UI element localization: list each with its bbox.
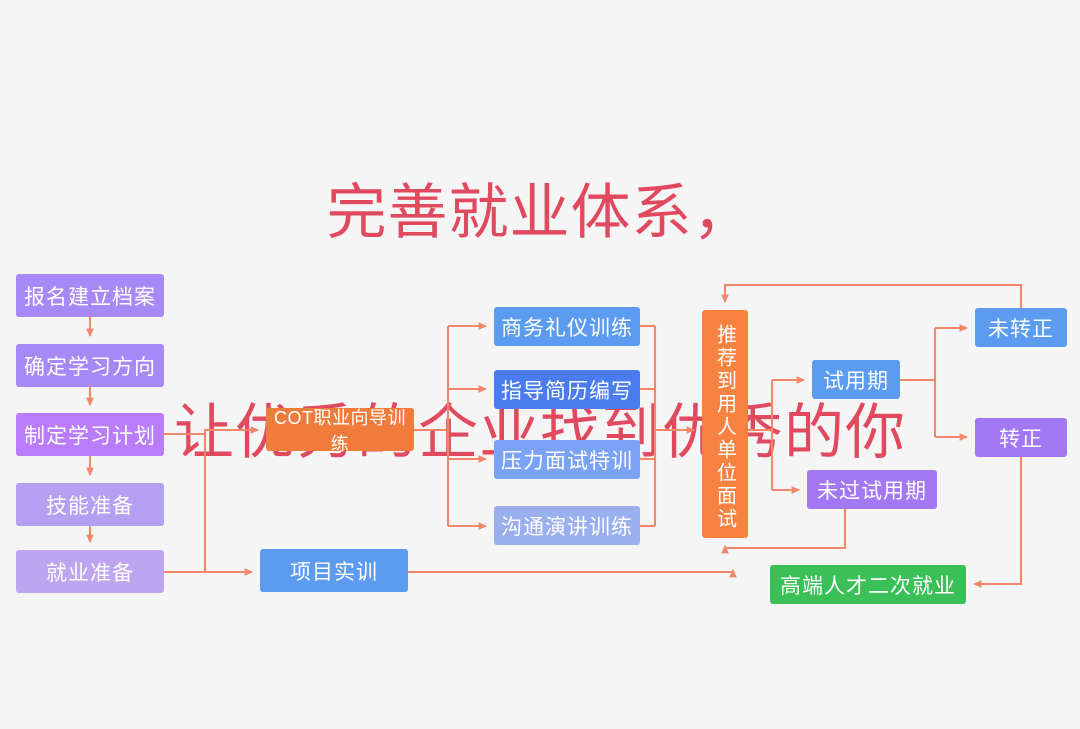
node-tuijian-dao-yongren-danwei-mianshi[interactable]: 推荐到用人单位面试 bbox=[702, 310, 748, 538]
node-label: 未过试用期 bbox=[817, 475, 927, 505]
node-wei-zhuanzheng[interactable]: 未转正 bbox=[975, 308, 1067, 347]
node-label: 制定学习计划 bbox=[24, 420, 156, 450]
flowchart-canvas: 完善就业体系， 让优秀的企业找到优秀的你 bbox=[0, 0, 1080, 729]
node-shangwu-liyi-xunlian[interactable]: 商务礼仪训练 bbox=[494, 307, 640, 346]
node-label: 试用期 bbox=[823, 365, 889, 395]
node-label: 高端人才二次就业 bbox=[780, 570, 956, 600]
node-shiyongqi[interactable]: 试用期 bbox=[812, 360, 900, 399]
node-label: 压力面试特训 bbox=[501, 445, 633, 475]
node-label: 商务礼仪训练 bbox=[501, 312, 633, 342]
node-label: 沟通演讲训练 bbox=[501, 511, 633, 541]
node-xiangmu-shixun[interactable]: 项目实训 bbox=[260, 549, 408, 592]
node-zhidao-jianli-bianxie[interactable]: 指导简历编写 bbox=[494, 370, 640, 409]
node-label: 项目实训 bbox=[290, 556, 378, 586]
page-title-line-1: 完善就业体系， bbox=[0, 176, 1080, 249]
node-label: 确定学习方向 bbox=[24, 351, 156, 381]
node-baoming-jianli-dangan[interactable]: 报名建立档案 bbox=[16, 274, 164, 317]
node-label: COT职业向导训练 bbox=[266, 404, 414, 456]
node-goutong-yanjiang-xunlian[interactable]: 沟通演讲训练 bbox=[494, 506, 640, 545]
node-queding-xuexi-fangxiang[interactable]: 确定学习方向 bbox=[16, 344, 164, 387]
node-zhuanzheng[interactable]: 转正 bbox=[975, 418, 1067, 457]
node-label: 指导简历编写 bbox=[501, 375, 633, 405]
node-label: 就业准备 bbox=[46, 557, 134, 587]
node-zhiding-xuexi-jihua[interactable]: 制定学习计划 bbox=[16, 413, 164, 456]
node-label: 推荐到用人单位面试 bbox=[711, 324, 740, 531]
node-label: 转正 bbox=[999, 423, 1043, 453]
node-label: 未转正 bbox=[988, 313, 1054, 343]
node-weiguo-shiyongqi[interactable]: 未过试用期 bbox=[807, 470, 937, 509]
node-jiuye-zhunbei[interactable]: 就业准备 bbox=[16, 550, 164, 593]
node-gaoduan-rencai-erci-jiuye[interactable]: 高端人才二次就业 bbox=[770, 565, 966, 604]
node-yali-mianshi-texun[interactable]: 压力面试特训 bbox=[494, 440, 640, 479]
node-label: 技能准备 bbox=[46, 490, 134, 520]
node-cot-zhiye-xiangdao-xunlian[interactable]: COT职业向导训练 bbox=[266, 408, 414, 451]
node-jineng-zhunbei[interactable]: 技能准备 bbox=[16, 483, 164, 526]
node-label: 报名建立档案 bbox=[24, 281, 156, 311]
